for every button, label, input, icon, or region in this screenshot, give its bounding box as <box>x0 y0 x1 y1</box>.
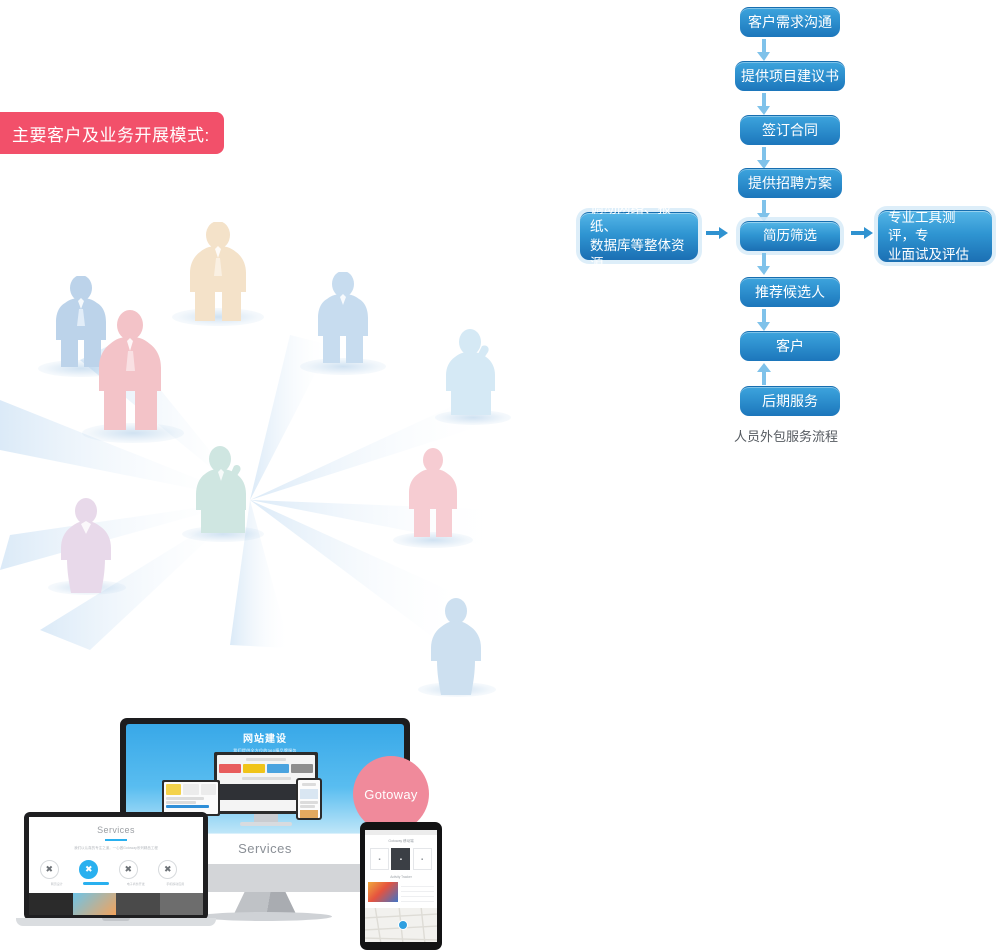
flow-node-resource[interactable]: 调动网络、报纸、 数据库等整体资源 <box>580 212 698 260</box>
laptop-service-active-pill <box>83 882 109 885</box>
arrow-down-icon <box>757 93 771 115</box>
laptop-service-icons: ✖ 网页设计 ✖ ✖ 电子商务开发 ✖ 手机移动应用 <box>29 860 203 886</box>
tablet-grid-cell-active: ■ <box>391 848 410 870</box>
arrow-down-icon <box>757 147 771 169</box>
laptop-screen: Services 我们以认真的专注之道，一心做Gotoway系列精品工程 ✖ 网… <box>29 817 203 915</box>
silhouette-person-pink-2 <box>402 448 464 538</box>
flow-node-step-2[interactable]: 提供项目建议书 <box>735 61 845 91</box>
arrow-up-icon <box>757 363 771 385</box>
flow-node-step-4[interactable]: 提供招聘方案 <box>738 168 842 198</box>
laptop-service-item: ✖ 网页设计 <box>40 860 74 886</box>
page-title-badge: 主要客户及业务开展模式: <box>0 112 224 154</box>
map-location-pin <box>398 920 408 930</box>
flow-node-label: 后期服务 <box>762 392 818 411</box>
silhouette-person-blue-3 <box>424 598 488 696</box>
flow-node-label: 客户需求沟通 <box>748 13 832 32</box>
mockup-tile-row <box>219 764 313 773</box>
laptop-notch <box>102 918 130 921</box>
flow-node-label: 提供项目建议书 <box>741 67 839 86</box>
arrow-right-icon <box>851 226 873 240</box>
laptop-service-item: ✖ 电子商务开发 <box>119 860 153 886</box>
flow-node-step-5[interactable]: 简历筛选 <box>740 221 840 251</box>
laptop-service-caption: 手机移动应用 <box>158 882 192 886</box>
scissors-icon: ✖ <box>158 860 177 879</box>
silhouette-person-lavender <box>55 498 117 594</box>
monitor-hero: 网站建设 我们提供全方位的360精品牌服务 <box>126 730 404 754</box>
gotoway-badge: Gotoway <box>353 756 429 832</box>
laptop-page-title: Services <box>29 825 203 835</box>
mockup-inner-laptop-screen <box>164 782 218 814</box>
arrow-down-icon <box>757 253 771 275</box>
mockup-inner-laptop <box>162 780 220 816</box>
silhouette-person-lightblue <box>440 328 504 416</box>
laptop-service-caption: 网页设计 <box>40 882 74 886</box>
monitor-base <box>198 912 332 921</box>
flow-node-label: 客户 <box>776 337 804 356</box>
tablet-map-view <box>365 908 437 942</box>
tablet-thumbnail <box>368 882 398 902</box>
arrow-right-icon <box>706 226 728 240</box>
tablet-section-title: Activity Tracker <box>365 875 437 879</box>
flow-node-label: 提供招聘方案 <box>748 174 832 193</box>
laptop-title-rule <box>105 839 127 841</box>
scissors-icon: ✖ <box>119 860 138 879</box>
mockup-inner-tablet-screen <box>298 780 320 818</box>
monitor-headline: 网站建设 <box>126 730 404 745</box>
arrow-down-icon <box>757 39 771 61</box>
tablet-grid-cell: ■ <box>413 848 432 870</box>
outsourcing-process-flowchart: 客户需求沟通 提供项目建议书 签订合同 提供招聘方案 调动网络、报纸、 数据库等… <box>575 0 997 460</box>
photo-tile <box>73 893 117 915</box>
flow-node-label: 简历筛选 <box>763 227 817 245</box>
tablet-list-rows <box>401 882 434 902</box>
flow-node-label: 签订合同 <box>762 121 818 140</box>
flow-node-step-3[interactable]: 签订合同 <box>740 115 840 145</box>
gotoway-badge-label: Gotoway <box>364 787 417 802</box>
flow-node-step-7[interactable]: 客户 <box>740 331 840 361</box>
tablet-icon-grid: ■ ■ ■ <box>369 848 433 870</box>
tablet-mockup: Gotoway 移动端 ■ ■ ■ Activity Tracker <box>360 822 442 950</box>
laptop-service-item: ✖ 手机移动应用 <box>158 860 192 886</box>
laptop-subtitle: 我们以认真的专注之道，一心做Gotoway系列精品工程 <box>29 846 203 851</box>
laptop-service-caption: 电子商务开发 <box>119 882 153 886</box>
mockup-inner-tablet <box>296 778 322 820</box>
laptop-service-item: ✖ <box>79 860 113 886</box>
flow-node-label: 调动网络、报纸、 数据库等整体资源 <box>590 200 688 273</box>
flow-node-label: 推荐候选人 <box>755 283 825 302</box>
photo-tile <box>160 893 204 915</box>
page-title-text: 主要客户及业务开展模式: <box>12 121 210 146</box>
tablet-status-bar <box>365 830 437 835</box>
flowchart-caption: 人员外包服务流程 <box>734 426 838 445</box>
tablet-grid-cell: ■ <box>370 848 389 870</box>
arrow-down-icon <box>757 309 771 331</box>
laptop-photo-strip <box>29 893 203 915</box>
photo-tile <box>116 893 160 915</box>
flow-node-step-1[interactable]: 客户需求沟通 <box>740 7 840 37</box>
flow-node-step-6[interactable]: 推荐候选人 <box>740 277 840 307</box>
arrow-down-icon <box>757 200 771 222</box>
flow-node-assessment[interactable]: 专业工具测评，专 业面试及评估 <box>878 210 992 262</box>
business-illustration: 网站建设 我们提供全方位的360精品牌服务 <box>0 250 510 703</box>
tablet-screen: Gotoway 移动端 ■ ■ ■ Activity Tracker <box>365 830 437 942</box>
scissors-icon: ✖ <box>40 860 59 879</box>
silhouette-person-blue-2 <box>310 272 376 364</box>
flow-node-label: 专业工具测评，专 业面试及评估 <box>888 209 982 264</box>
laptop-mockup: Services 我们以认真的专注之道，一心做Gotoway系列精品工程 ✖ 网… <box>16 812 216 940</box>
laptop-lid: Services 我们以认真的专注之道，一心做Gotoway系列精品工程 ✖ 网… <box>24 812 208 920</box>
list-item <box>401 897 434 902</box>
silhouette-person-tan <box>182 222 254 322</box>
tablet-list <box>368 882 434 902</box>
photo-tile <box>29 893 73 915</box>
flow-node-step-8[interactable]: 后期服务 <box>740 386 840 416</box>
tablet-header: Gotoway 移动端 <box>365 839 437 844</box>
scissors-icon-active: ✖ <box>79 860 98 879</box>
silhouette-person-pink <box>90 310 172 432</box>
silhouette-person-teal <box>190 446 256 534</box>
mockup-inner-monitor-base <box>240 822 292 826</box>
